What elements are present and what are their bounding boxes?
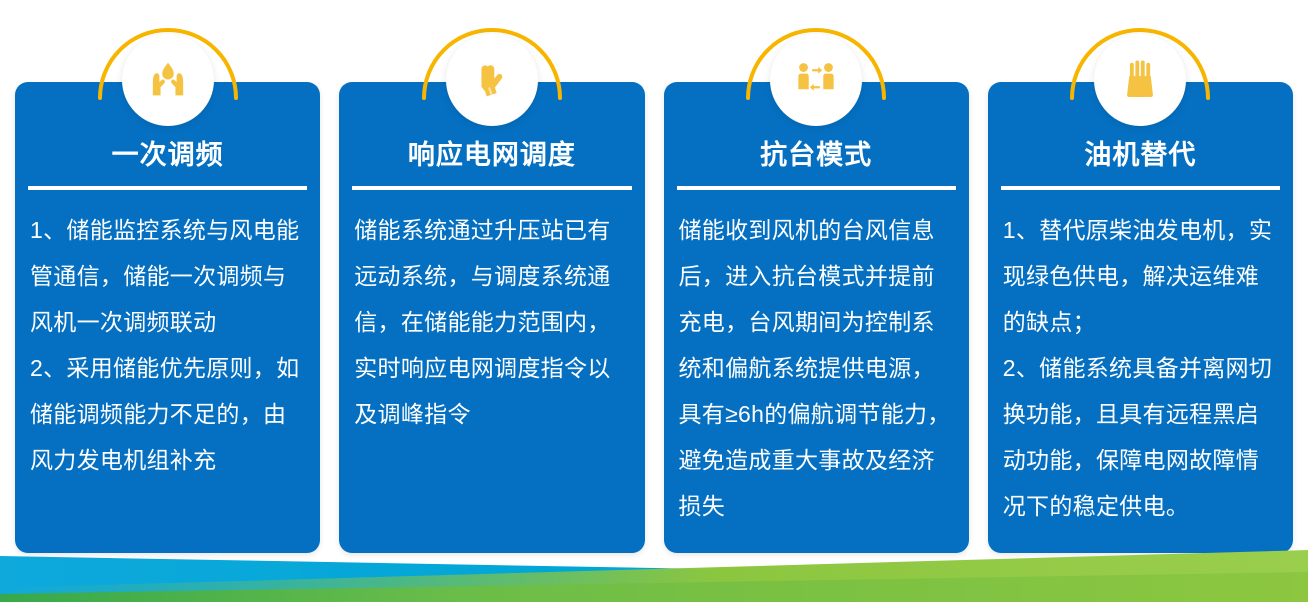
card-body-text: 储能系统通过升压站已有远动系统，与调度系统通信，在储能能力范围内，实时响应电网调…: [339, 190, 644, 447]
feature-card-2[interactable]: 响应电网调度 储能系统通过升压站已有远动系统，与调度系统通信，在储能能力范围内，…: [339, 82, 644, 553]
card-body-text: 储能收到风机的台风信息后，进入抗台模式并提前充电，台风期间为控制系统和偏航系统提…: [664, 190, 969, 539]
card-title: 响应电网调度: [339, 138, 644, 176]
hands-holding-flame-icon: [122, 34, 214, 126]
glove-icon: [446, 34, 538, 126]
feature-card-4[interactable]: 油机替代 1、替代原柴油发电机，实现绿色供电，解决运维难的缺点； 2、储能系统具…: [988, 82, 1293, 553]
card-title: 油机替代: [988, 138, 1293, 176]
two-people-exchange-icon: [770, 34, 862, 126]
feature-card-1[interactable]: 一次调频 1、储能监控系统与风电能管通信，储能一次调频与风机一次调频联动 2、采…: [15, 82, 320, 553]
card-title: 抗台模式: [664, 138, 969, 176]
card-body-text: 1、储能监控系统与风电能管通信，储能一次调频与风机一次调频联动 2、采用储能优先…: [15, 190, 320, 493]
wave-banner: [0, 528, 1308, 602]
slide-root: 一次调频 1、储能监控系统与风电能管通信，储能一次调频与风机一次调频联动 2、采…: [0, 0, 1308, 602]
open-hand-icon: [1094, 34, 1186, 126]
card-title: 一次调频: [15, 138, 320, 176]
feature-card-3[interactable]: 抗台模式 储能收到风机的台风信息后，进入抗台模式并提前充电，台风期间为控制系统和…: [664, 82, 969, 553]
feature-card-list: 一次调频 1、储能监控系统与风电能管通信，储能一次调频与风机一次调频联动 2、采…: [0, 0, 1308, 560]
card-body-text: 1、替代原柴油发电机，实现绿色供电，解决运维难的缺点； 2、储能系统具备并离网切…: [988, 190, 1293, 539]
